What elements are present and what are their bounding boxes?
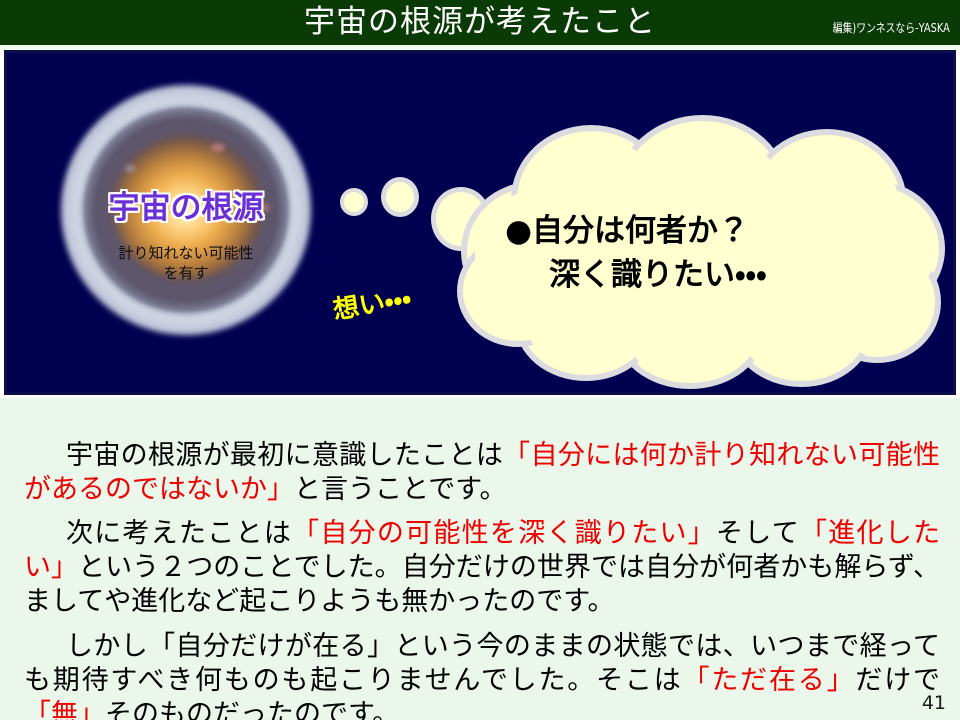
thought-tail-bubble-medium [381, 177, 419, 217]
header-credit: 編集)ワンネスなら-YASKA [833, 19, 950, 36]
slide-root: 宇宙の根源が考えたこと 編集)ワンネスなら-YASKA 宇宙の根源 計り知れない… [0, 0, 960, 720]
plain-text: そのものだったのです。 [105, 699, 399, 720]
cloud-line-1: ●自分は何者か？ [505, 213, 749, 249]
plain-text: 宇宙の根源が最初に意識したことは [66, 440, 503, 471]
galaxy-orb: 宇宙の根源 計り知れない可能性 を有す [61, 85, 311, 335]
paragraph-2: 次に考えたことは「自分の可能性を深く識りたい」そして「進化したい」という２つのこ… [24, 517, 940, 619]
plain-text: と言うことです。 [294, 474, 507, 505]
orb-speck [125, 165, 135, 172]
illustration-panel: 宇宙の根源 計り知れない可能性 を有す 想い・・・ [4, 50, 956, 395]
page-title: 宇宙の根源が考えたこと [0, 0, 960, 45]
cloud-spacer [505, 341, 915, 367]
plain-text: そして [716, 518, 800, 549]
plain-text: 次に考えたことは [66, 518, 292, 549]
thought-cloud: ●自分は何者か？ 深く識りたい・・・ ●進化したい・・・ [457, 115, 947, 390]
orb-sublabel: 計り知れない可能性 を有す [61, 243, 311, 283]
orb-label: 宇宙の根源 [61, 182, 311, 227]
page-number: 41 [922, 692, 946, 714]
cloud-line-2: 深く識りたい・・・ [505, 253, 915, 297]
thought-tail-bubble-small [340, 188, 368, 216]
orb-speck [211, 143, 225, 152]
paragraph-1: 宇宙の根源が最初に意識したことは「自分には何か計り知れない可能性があるのではない… [24, 439, 940, 507]
omoi-label: 想い・・・ [330, 278, 413, 327]
thought-cloud-text: ●自分は何者か？ 深く識りたい・・・ ●進化したい・・・ [505, 165, 915, 395]
body-text-area: 宇宙の根源が最初に意識したことは「自分には何か計り知れない可能性があるのではない… [0, 398, 960, 720]
paragraph-3: しかし「自分だけが在る」という今のままの状態では、いつまで経っても期待すべき何も… [24, 630, 940, 720]
highlighted-text: 「無」 [24, 699, 105, 720]
plain-text: という２つのことでした。自分だけの世界では自分が何者かも解らず、ましてや進化など… [24, 552, 940, 617]
highlighted-text: 「自分の可能性を深く識りたい」 [292, 518, 716, 549]
highlighted-text: 「ただ在る」 [683, 665, 856, 696]
